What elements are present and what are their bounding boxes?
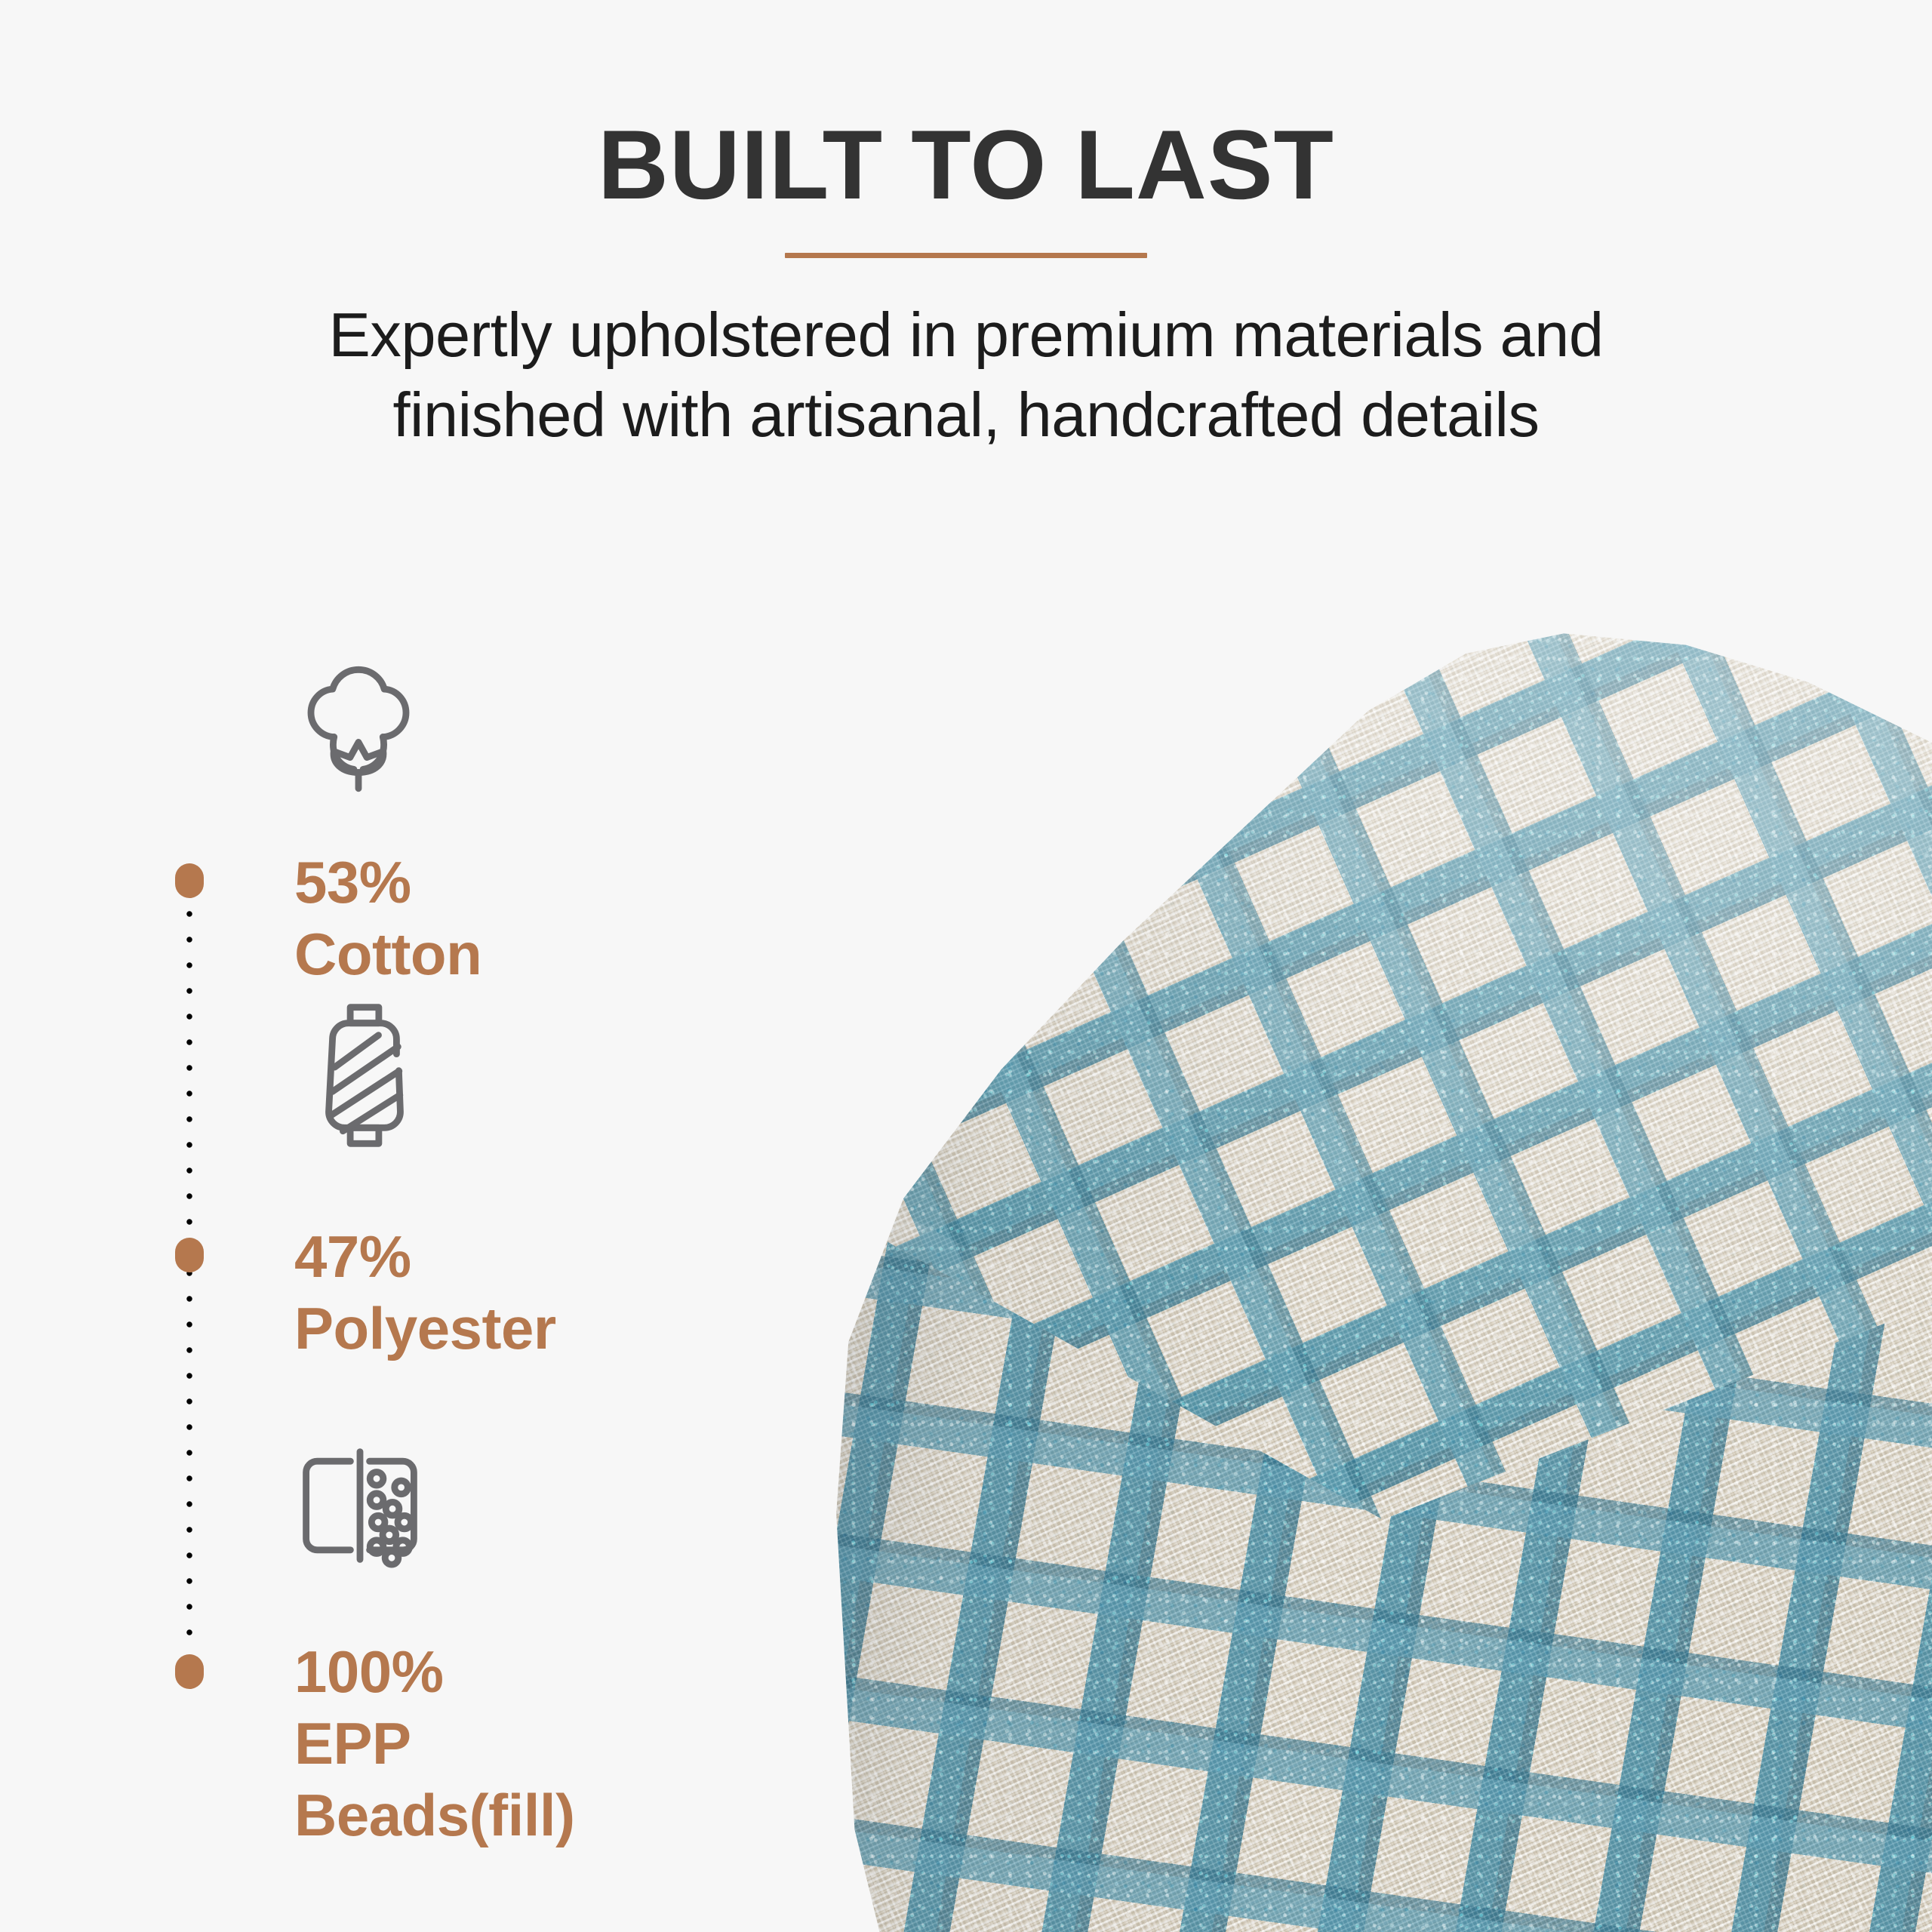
spec-bullet-epp-beads — [175, 1654, 204, 1689]
header: BUILT TO LAST Expertly upholstered in pr… — [0, 113, 1932, 455]
epp-beads-icon — [281, 1426, 439, 1585]
spec-bullet-cotton — [175, 863, 204, 898]
title-divider — [785, 253, 1147, 258]
page-title: BUILT TO LAST — [0, 113, 1932, 217]
thread-spool-icon — [285, 996, 444, 1155]
pouf-shading — [830, 596, 1932, 1932]
spec-bullet-polyester — [175, 1238, 204, 1272]
page-subtitle: Expertly upholstered in premium material… — [226, 295, 1706, 455]
spec-label-polyester: 47% Polyester — [294, 1221, 556, 1364]
infographic-page: BUILT TO LAST Expertly upholstered in pr… — [0, 0, 1932, 1932]
product-image — [800, 574, 1932, 1932]
title-divider-wrap — [0, 248, 1932, 262]
dotted-connector-line — [186, 875, 192, 1675]
cotton-boll-icon — [279, 649, 438, 808]
spec-label-epp-beads: 100% EPP Beads(fill) — [294, 1636, 575, 1851]
spec-label-cotton: 53% Cotton — [294, 847, 481, 990]
pouf-product — [830, 596, 1932, 1932]
